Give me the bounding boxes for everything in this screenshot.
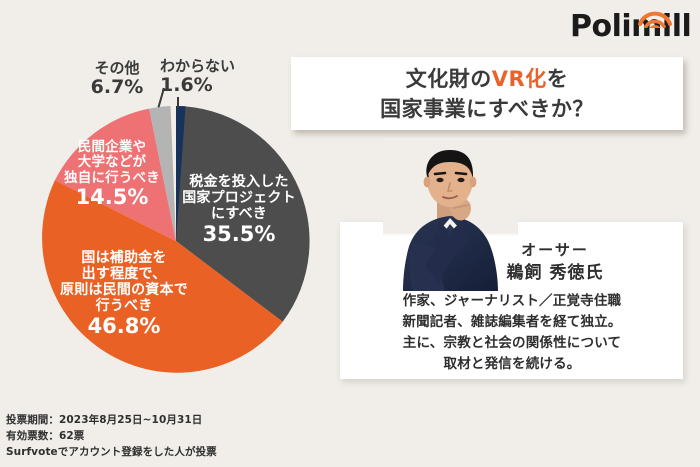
title-prefix: 文化財の bbox=[406, 67, 492, 91]
author-biography: 作家、ジャーナリスト／正覚寺住職 新聞記者、雑誌編集者を経て独立。 主に、宗教と… bbox=[348, 291, 676, 375]
pie-label-line: わからない bbox=[160, 58, 260, 75]
polimill-logo[interactable]: Polimill bbox=[570, 8, 690, 48]
pie-label-dont-know: わからない 1.6% bbox=[160, 58, 260, 96]
pie-label-percent: 6.7% bbox=[71, 77, 163, 98]
author-name: 鵜飼 秀徳氏 bbox=[440, 261, 670, 285]
title-suffix: を bbox=[547, 67, 569, 91]
logo-wordmark: Polimill bbox=[570, 12, 691, 42]
wifi-arc-icon bbox=[637, 8, 673, 28]
author-bio-line: 新聞記者、雑誌編集者を経て独立。 bbox=[348, 312, 676, 333]
pie-label-line: その他 bbox=[71, 60, 163, 77]
poster-canvas: Polimill 文化財のVR化を 国家事業にすべきか？ 税 bbox=[0, 0, 700, 467]
question-title-card: 文化財のVR化を 国家事業にすべきか？ bbox=[291, 57, 683, 130]
survey-valid-votes: 有効票数：62票 bbox=[6, 428, 336, 444]
title-highlight: VR化 bbox=[492, 67, 547, 91]
survey-meta-footer: 投票期間：2023年8月25日~10月31日 有効票数：62票 Surfvote… bbox=[6, 412, 336, 460]
author-bio-line: 取材と発信を続ける。 bbox=[348, 354, 676, 375]
pie-label-other: その他 6.7% bbox=[71, 60, 163, 98]
pie-svg bbox=[38, 103, 314, 379]
page-title-line2: 国家事業にすべきか？ bbox=[380, 94, 594, 124]
pie-label-percent: 1.6% bbox=[160, 75, 260, 96]
survey-period: 投票期間：2023年8月25日~10月31日 bbox=[6, 412, 336, 428]
leader-line-dont-know bbox=[177, 97, 179, 109]
survey-note: Surfvoteでアカウント登録をした人が投票 bbox=[6, 444, 336, 460]
page-title-line1: 文化財のVR化を bbox=[406, 64, 568, 94]
author-bio-line: 主に、宗教と社会の関係性について bbox=[348, 333, 676, 354]
author-identity: オーサー 鵜飼 秀徳氏 bbox=[440, 240, 670, 285]
author-role-label: オーサー bbox=[440, 240, 670, 260]
poll-results-pie-chart: 税金を投入した 国家プロジェクト にすべき 35.5% 国は補助金を 出す程度で… bbox=[38, 103, 314, 379]
author-bio-line: 作家、ジャーナリスト／正覚寺住職 bbox=[348, 291, 676, 312]
